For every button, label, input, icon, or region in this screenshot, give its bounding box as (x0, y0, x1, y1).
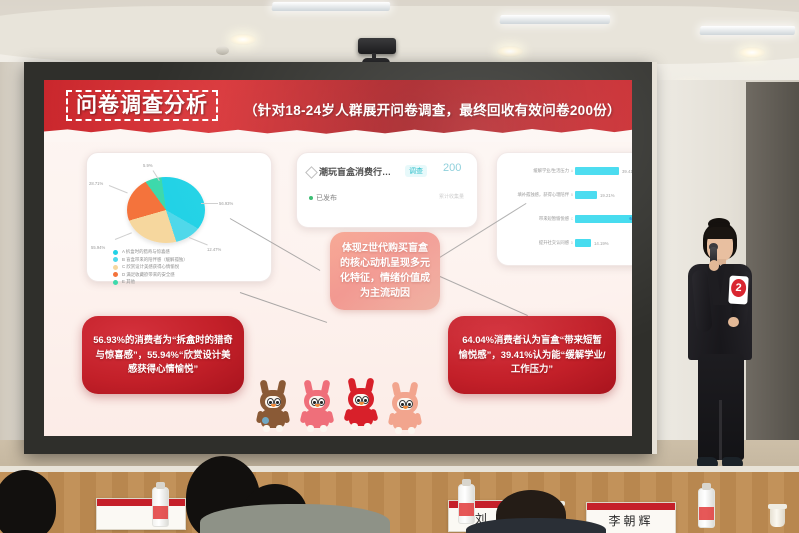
presentation-slide: 问卷调查分析 （针对18-24岁人群展开问卷调查，最终回收有效问卷200份） 5… (44, 80, 632, 436)
center-insight-text: 体现Z世代购买盲盒的核心动机呈现多元化特征，情绪价值成为主流动因 (330, 241, 440, 301)
presenter-hair-front (705, 227, 735, 239)
ceiling-spotlight-3 (739, 47, 765, 58)
mascot-accessory (262, 417, 269, 424)
placard-accent-bar (97, 499, 185, 506)
mascot-leg-right (320, 425, 327, 432)
water-bottle (698, 488, 715, 528)
mascot-mouth (359, 402, 364, 405)
callout-right-text: 64.04%消费者认为盲盒“带来短暂愉悦感”，39.41%认为能“缓解学业/工作… (448, 333, 616, 377)
slide-title-box: 问卷调查分析 (66, 90, 218, 121)
audience-shoulders (200, 504, 390, 533)
survey-tag-badge: 调查 (405, 165, 427, 177)
legend-swatch (113, 257, 118, 262)
mascot-leg-left (395, 427, 402, 434)
page-title: 问卷调查分析 (76, 94, 208, 117)
callout-left: 56.93%的消费者为“拆盒时的猎奇与惊喜感”，55.94%“欣赏设计美感获得心… (82, 316, 244, 394)
badge-number: 2 (731, 279, 747, 298)
connector-center-to-left (240, 292, 327, 323)
diamond-icon (305, 166, 318, 179)
bottle-cap (156, 482, 165, 489)
bottle-cap (702, 483, 711, 490)
legend-swatch (113, 250, 118, 255)
mascot-mouth (271, 404, 276, 407)
legend-swatch (113, 272, 118, 277)
bar-fill (575, 239, 591, 247)
bar-value: 19.21% (600, 193, 615, 198)
legend-item: B 盲盒带来的陪伴感（缓解孤独） (113, 257, 188, 263)
bar-row: 缓解学业/生活压力 A 39.41% (507, 167, 632, 175)
mascot-red (344, 378, 378, 430)
bar-fill-highlight: 64.04% (575, 215, 632, 223)
pie-leader-a (201, 203, 218, 204)
presenter: 2 (672, 222, 768, 482)
mascot-peach (388, 382, 422, 434)
table-top-edge (0, 466, 799, 472)
connector-center-to-right (440, 276, 528, 316)
bottle-label (459, 503, 474, 516)
legend-label: B 盲盒带来的陪伴感（缓解孤独） (122, 257, 188, 263)
bar-value: 64.04% (629, 216, 632, 221)
survey-title: 潮玩盲盒消费行… (319, 165, 391, 178)
pie-chart-card: 56.93% 12.47% 55.94% 28.71% 5.9% A 拆盒时的猎… (86, 152, 272, 282)
mascot-mouth (403, 406, 408, 409)
mascot-face (397, 398, 413, 410)
ceiling-spotlight-2 (497, 46, 523, 57)
legend-label: D 满足收藏欲带来的安全感 (122, 272, 175, 278)
pie-label-c: 55.94% (91, 245, 105, 250)
survey-count-label: 累计收集量 (439, 193, 464, 200)
mascot-face (265, 396, 281, 408)
mascot-leg-right (364, 423, 371, 430)
legend-label: E 其他 (122, 279, 135, 285)
mascot-arm-right (282, 411, 290, 424)
screenshot-root: 问卷调查分析 （针对18-24岁人群展开问卷调查，最终回收有效问卷200份） 5… (0, 0, 799, 533)
contestant-badge: 2 (728, 276, 748, 305)
status-badge: 已发布 (316, 193, 337, 203)
bar-value: 14.19% (594, 241, 609, 246)
presenter-leg-gap (719, 400, 722, 460)
legend-item: D 满足收藏欲带来的安全感 (113, 272, 188, 278)
pie-label-a: 56.93% (219, 201, 233, 206)
bar-label: 填补孤独感，获得心理陪伴 (507, 192, 569, 198)
mascot-face (309, 396, 325, 408)
legend-swatch (113, 265, 118, 270)
presenter-hand-left (709, 260, 719, 271)
presenter-hand-right (728, 317, 739, 327)
bottle-cap (462, 479, 471, 486)
legend-label: A 拆盒时的猎奇与惊喜感 (122, 249, 170, 255)
projection-screen-frame: 问卷调查分析 （针对18-24岁人群展开问卷调查，最终回收有效问卷200份） 5… (24, 62, 652, 454)
bottle-label (153, 506, 168, 519)
mascot-face (353, 394, 369, 406)
water-bottle (458, 484, 475, 524)
paper-cup (770, 508, 785, 527)
mascot-leg-right (408, 427, 415, 434)
legend-swatch (113, 280, 118, 285)
slide-subtitle: （针对18-24岁人群展开问卷调查，最终回收有效问卷200份） (244, 99, 621, 119)
audience-shoulders-right (466, 518, 606, 533)
mascot-leg-right (276, 425, 283, 432)
bar-row: 填补孤独感，获得心理陪伴 B 19.21% (507, 191, 615, 199)
survey-count: 200 (443, 162, 461, 174)
pie-leader-d (109, 185, 128, 193)
pie-label-e: 5.9% (143, 163, 153, 168)
ceiling-projector (358, 38, 396, 54)
legend-item: A 拆盒时的猎奇与惊喜感 (113, 249, 188, 255)
mascot-arm-right (414, 413, 422, 426)
pie-chart (127, 177, 205, 243)
ceiling-linear-light-1 (272, 2, 391, 11)
bar-fill (575, 167, 619, 175)
mascot-leg-left (351, 423, 358, 430)
pie-leader-c (115, 232, 132, 240)
mascot-brown (256, 380, 290, 432)
pie-label-b: 12.47% (207, 247, 221, 252)
bar-label: 带来短暂愉悦感 (507, 216, 569, 222)
water-bottle (152, 487, 169, 527)
callout-left-text: 56.93%的消费者为“拆盒时的猎奇与惊喜感”，55.94%“欣赏设计美感获得心… (82, 333, 244, 377)
bar-row: 带来短暂愉悦感 C 64.04% (507, 215, 632, 223)
bar-value: 39.41% (622, 169, 632, 174)
center-insight-box: 体现Z世代购买盲盒的核心动机呈现多元化特征，情绪价值成为主流动因 (330, 232, 440, 310)
legend-item: E 其他 (113, 279, 188, 285)
cup-lid (768, 504, 787, 509)
mascot-pink (300, 380, 334, 432)
name-placard (96, 498, 186, 530)
placard-accent-bar (587, 503, 675, 510)
mascot-leg-left (263, 425, 270, 432)
bar-row: 提升社交认同感 D 14.19% (507, 239, 609, 247)
bottle-label (699, 507, 714, 520)
legend-item: C 欣赏设计美感获得心情愉悦 (113, 264, 188, 270)
ceiling-curve (0, 6, 799, 64)
pie-legend: A 拆盒时的猎奇与惊喜感 B 盲盒带来的陪伴感（缓解孤独） C 欣赏设计美感获得… (113, 249, 188, 287)
wall-left (0, 62, 26, 462)
pie-label-d: 28.71% (89, 181, 103, 186)
ceiling-linear-light-2 (500, 15, 611, 24)
ceiling-linear-light-3 (700, 26, 796, 35)
smoke-detector-icon (216, 46, 229, 55)
mascot-leg-left (307, 425, 314, 432)
bar-label: 缓解学业/生活压力 (507, 168, 569, 174)
callout-right: 64.04%消费者认为盲盒“带来短暂愉悦感”，39.41%认为能“缓解学业/工作… (448, 316, 616, 394)
survey-summary-card[interactable]: 潮玩盲盒消费行… 调查 200 累计收集量 已发布 (296, 152, 478, 228)
status-dot-icon (309, 196, 313, 200)
bar-fill (575, 191, 597, 199)
mascot-mouth (315, 404, 320, 407)
legend-label: C 欣赏设计美感获得心情愉悦 (122, 264, 179, 270)
pie-leader-b (189, 237, 208, 245)
ceiling-spotlight-1 (230, 34, 256, 45)
bar-label: 提升社交认同感 (507, 240, 569, 246)
